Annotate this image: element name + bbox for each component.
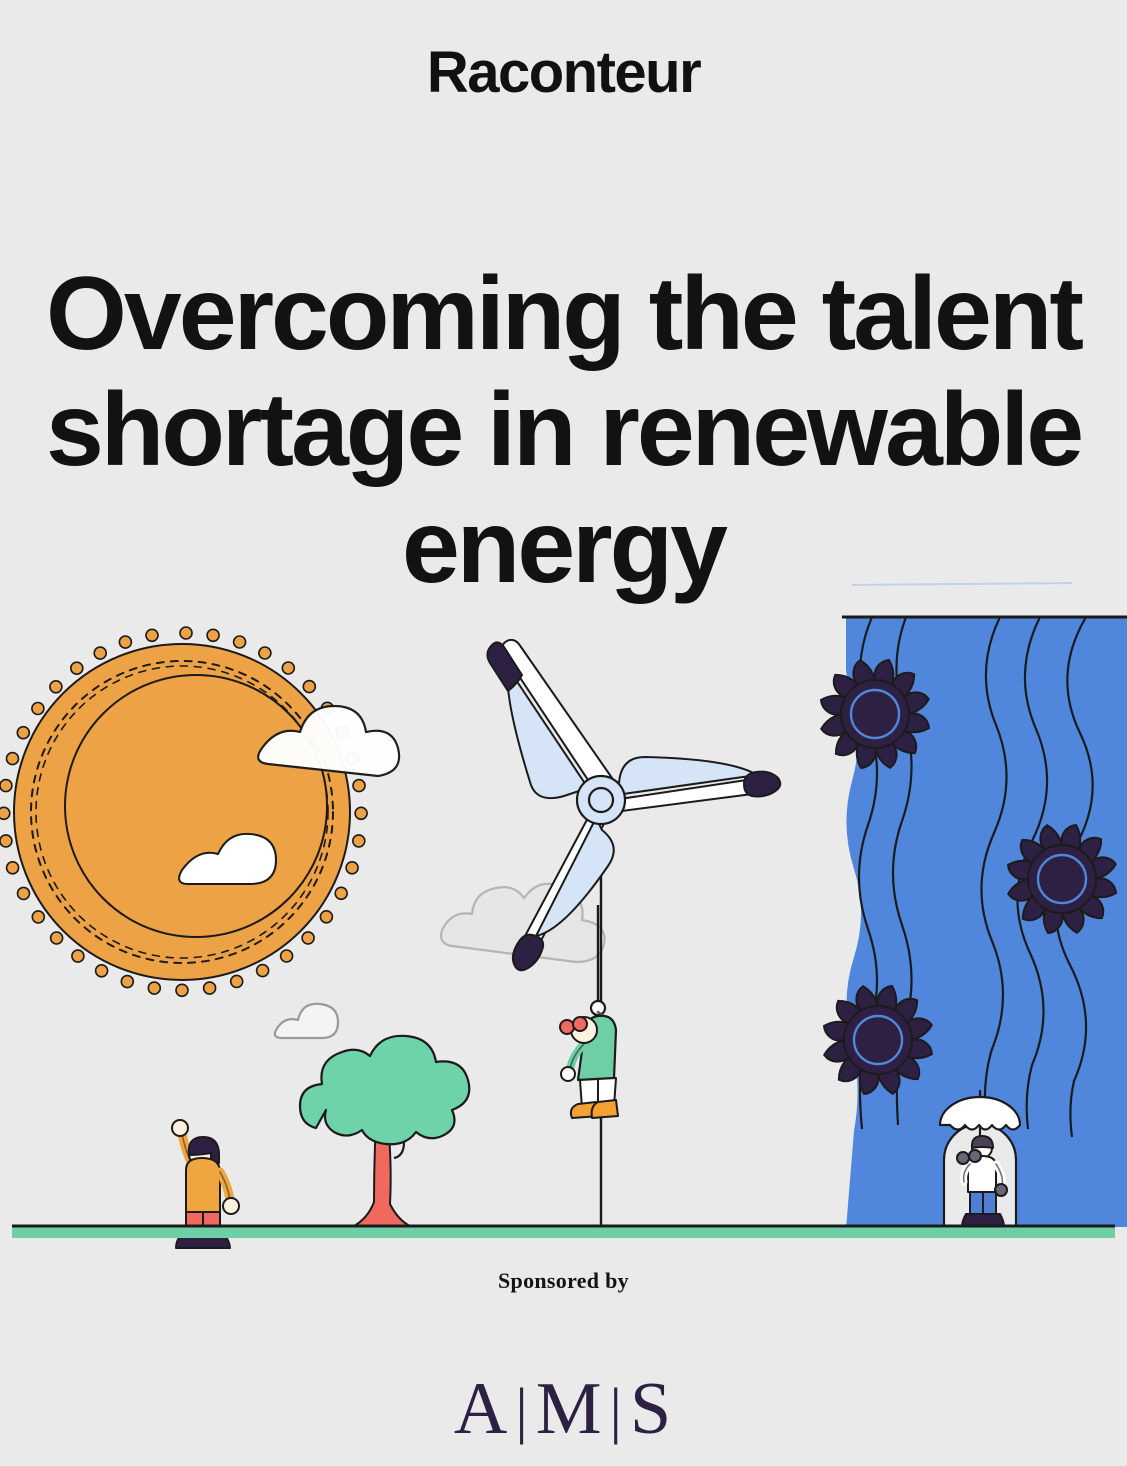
technician-head bbox=[571, 1017, 597, 1043]
page-title-line-3: energy bbox=[402, 489, 725, 605]
technician-hand bbox=[561, 1067, 575, 1081]
waver-hair bbox=[189, 1137, 219, 1163]
umbrella-canopy bbox=[940, 1097, 1020, 1130]
umbrella-person-hair bbox=[972, 1136, 993, 1148]
waterfall-body bbox=[846, 617, 1127, 1229]
technician-hair-bun-right bbox=[573, 1017, 587, 1031]
sun-ray-dots bbox=[0, 627, 367, 996]
waver-trousers bbox=[186, 1212, 220, 1246]
umbrella-person-hand-left-2 bbox=[969, 1150, 981, 1162]
ams-letter-s: S bbox=[630, 1368, 673, 1450]
page-title-line-1: Overcoming the talent bbox=[46, 256, 1081, 372]
tree-branch bbox=[388, 1124, 404, 1158]
technician-hair-bun-left bbox=[560, 1020, 574, 1034]
cloud-large bbox=[258, 706, 399, 776]
ams-sponsor-logo[interactable]: A|M|S bbox=[0, 1372, 1127, 1446]
abseil-rope-ring bbox=[591, 1001, 605, 1015]
person-with-umbrella bbox=[940, 1090, 1020, 1227]
page-title-line-2: shortage in renewable bbox=[46, 372, 1081, 488]
technician-torso bbox=[578, 1016, 616, 1080]
hydro-wheel-2 bbox=[1006, 823, 1118, 935]
hydro-wheel-1 bbox=[819, 658, 931, 770]
umbrella-person-hand-right bbox=[995, 1184, 1007, 1196]
technician-arm-down bbox=[570, 1044, 584, 1070]
technician-shoe-right bbox=[592, 1100, 618, 1118]
waterfall bbox=[842, 583, 1127, 1229]
waver-hand-up bbox=[172, 1120, 188, 1136]
umbrella-person-head bbox=[972, 1138, 992, 1158]
tree-foliage bbox=[300, 1036, 469, 1144]
sun bbox=[0, 627, 367, 996]
ground-strip bbox=[12, 1226, 1115, 1238]
waterfall-wave-lines bbox=[859, 617, 1093, 1137]
umbrella-person-hand-left bbox=[957, 1152, 969, 1164]
waver-shoes bbox=[176, 1234, 230, 1248]
waver-hand-down bbox=[223, 1198, 239, 1214]
abseiling-technician bbox=[560, 905, 618, 1118]
sun-wavy-ring bbox=[31, 661, 333, 963]
cloud-outline-small bbox=[275, 1004, 338, 1038]
sun-wavy-ring-inner bbox=[36, 666, 328, 958]
hydro-wheel-3 bbox=[822, 984, 934, 1096]
tree bbox=[300, 1036, 469, 1226]
technician-arm-up bbox=[598, 1012, 612, 1056]
umbrella-person-arm-left bbox=[964, 1164, 970, 1182]
ams-letter-a: A bbox=[454, 1368, 509, 1450]
cover-illustration bbox=[0, 0, 1127, 1466]
person-waving bbox=[172, 1120, 239, 1248]
tree-trunk bbox=[354, 1120, 410, 1226]
cloud-outline-large bbox=[441, 884, 604, 962]
umbrella-person-trousers bbox=[970, 1192, 996, 1220]
umbrella-person-shoes bbox=[962, 1214, 1004, 1227]
waver-arm-up bbox=[182, 1132, 196, 1172]
sun-inner-circle bbox=[65, 675, 327, 937]
umbrella-person-arm-right bbox=[996, 1164, 1002, 1186]
waterfall-arch bbox=[944, 1124, 1016, 1229]
technician-legs bbox=[580, 1078, 616, 1108]
wind-turbine bbox=[487, 640, 780, 1232]
turbine-hub-outer bbox=[577, 776, 625, 824]
turbine-blade-upper-left bbox=[487, 640, 612, 798]
technician-shoe-left bbox=[571, 1102, 600, 1118]
ams-letter-m: M bbox=[536, 1368, 604, 1450]
turbine-hub-inner bbox=[589, 788, 613, 812]
page-title: Overcoming the talent shortage in renewa… bbox=[0, 256, 1127, 605]
waver-head bbox=[189, 1141, 215, 1167]
report-cover-page: Raconteur Overcoming the talent shortage… bbox=[0, 0, 1127, 1466]
turbine-blade-right bbox=[613, 757, 780, 812]
sponsored-by-label: Sponsored by bbox=[0, 1268, 1127, 1294]
turbine-blade-lower-left bbox=[513, 814, 614, 970]
waver-arm-down bbox=[220, 1172, 230, 1200]
waver-jacket bbox=[186, 1158, 220, 1212]
raconteur-logo[interactable]: Raconteur bbox=[427, 44, 700, 102]
cloud-small-sun bbox=[179, 834, 276, 884]
ams-divider-2: | bbox=[604, 1377, 630, 1445]
umbrella-person-torso bbox=[968, 1156, 996, 1192]
ams-divider-1: | bbox=[509, 1377, 535, 1445]
masthead: Raconteur bbox=[0, 44, 1127, 102]
sun-disc bbox=[14, 644, 350, 980]
